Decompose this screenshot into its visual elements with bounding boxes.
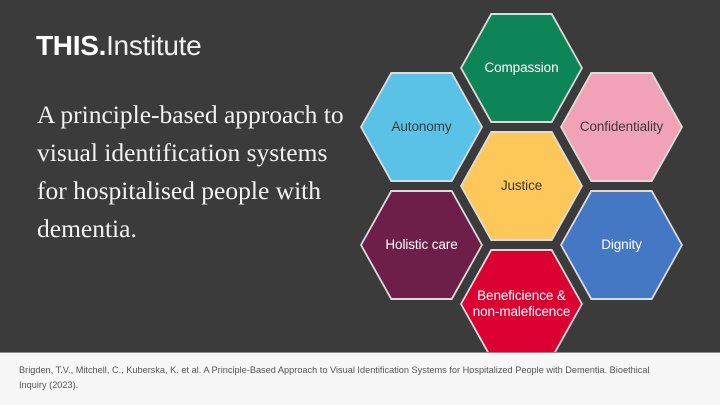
hex-cell-confidentiality[interactable]: Confidentiality (562, 74, 681, 180)
slide-dark-area: THIS.Institute A principle-based approac… (0, 0, 720, 352)
citation-text: Brigden, T.V., Mitchell, C., Kuberska, K… (19, 363, 679, 392)
hex-cell-compassion[interactable]: Compassion (462, 15, 581, 121)
logo-bold-text: THIS. (36, 30, 106, 61)
hex-cell-autonomy[interactable]: Autonomy (362, 74, 481, 180)
logo-light-text: Institute (106, 30, 201, 61)
hex-label-confidentiality: Confidentiality (580, 119, 663, 135)
slide-headline: A principle-based approach to visual ide… (37, 96, 349, 248)
principles-honeycomb-diagram: Compassion Autonomy Confidentiality Just… (357, 16, 687, 346)
hex-cell-dignity[interactable]: Dignity (562, 192, 681, 298)
hex-label-dignity: Dignity (601, 237, 642, 253)
hex-label-holistic-care: Holistic care (385, 237, 457, 253)
slide-canvas: THIS.Institute A principle-based approac… (0, 0, 720, 405)
hex-cell-justice[interactable]: Justice (462, 133, 581, 239)
this-institute-logo: THIS.Institute (36, 31, 201, 61)
hex-label-beneficience: Beneficience & non-maleficence (471, 288, 572, 320)
hex-label-autonomy: Autonomy (392, 119, 452, 135)
footer-divider (0, 352, 720, 353)
hex-cell-holistic-care[interactable]: Holistic care (362, 192, 481, 298)
hex-label-compassion: Compassion (484, 60, 558, 76)
hex-label-justice: Justice (501, 178, 542, 194)
